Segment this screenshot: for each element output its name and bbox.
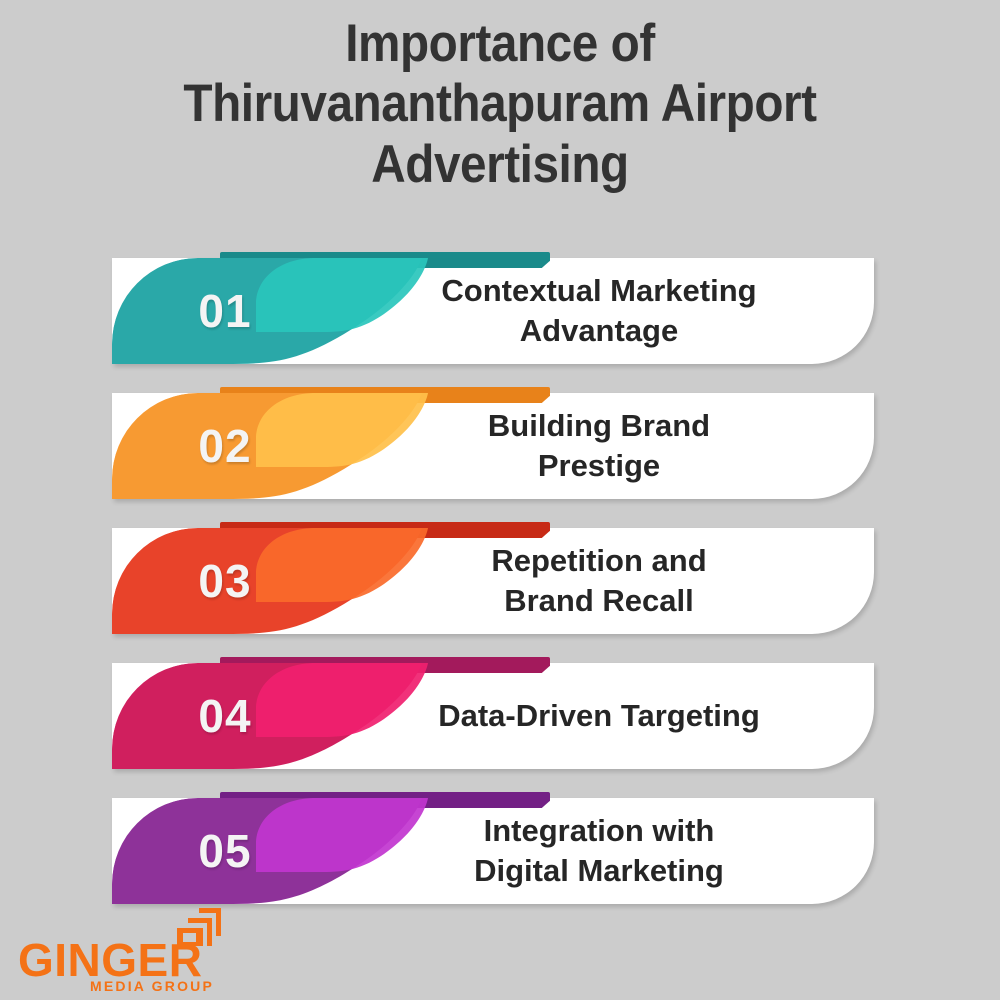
item-label-line-2: Prestige [488, 446, 710, 486]
item-label: Building Brand Prestige [380, 393, 818, 499]
items-list: 01 Contextual Marketing Advantage 02 Bui… [0, 246, 1000, 921]
list-item[interactable]: 03 Repetition and Brand Recall [0, 516, 1000, 651]
page-title-line-3: Advertising [50, 135, 950, 195]
list-item[interactable]: 05 Integration with Digital Marketing [0, 786, 1000, 921]
logo-subtitle: MEDIA GROUP [90, 978, 214, 994]
page-title-line-1: Importance of [50, 14, 950, 74]
list-item[interactable]: 01 Contextual Marketing Advantage [0, 246, 1000, 381]
list-item-inner: 04 Data-Driven Targeting [112, 651, 874, 769]
page-title: Importance of Thiruvananthapuram Airport… [50, 14, 950, 195]
list-item-inner: 01 Contextual Marketing Advantage [112, 246, 874, 364]
brand-logo[interactable]: GINGER MEDIA GROUP [18, 906, 258, 984]
list-item[interactable]: 02 Building Brand Prestige [0, 381, 1000, 516]
item-number: 04 [112, 663, 338, 769]
item-label: Contextual Marketing Advantage [380, 258, 818, 364]
item-number: 01 [112, 258, 338, 364]
item-label: Data-Driven Targeting [380, 663, 818, 769]
list-item-inner: 03 Repetition and Brand Recall [112, 516, 874, 634]
item-label-line-2: Advantage [441, 311, 756, 351]
nested-squares-arrow-icon [173, 908, 221, 952]
item-label-line-2: Brand Recall [491, 581, 706, 621]
list-item-inner: 02 Building Brand Prestige [112, 381, 874, 499]
page-title-line-2: Thiruvananthapuram Airport [50, 74, 950, 134]
item-label-line-2: Digital Marketing [474, 851, 724, 891]
item-label: Integration with Digital Marketing [380, 798, 818, 904]
item-label: Repetition and Brand Recall [380, 528, 818, 634]
list-item-inner: 05 Integration with Digital Marketing [112, 786, 874, 904]
item-label-line-1: Building Brand [488, 406, 710, 446]
item-number: 05 [112, 798, 338, 904]
list-item[interactable]: 04 Data-Driven Targeting [0, 651, 1000, 786]
item-number: 02 [112, 393, 338, 499]
item-label-line-1: Data-Driven Targeting [438, 696, 760, 736]
item-label-line-1: Contextual Marketing [441, 271, 756, 311]
item-label-line-1: Repetition and [491, 541, 706, 581]
item-label-line-1: Integration with [474, 811, 724, 851]
item-number: 03 [112, 528, 338, 634]
